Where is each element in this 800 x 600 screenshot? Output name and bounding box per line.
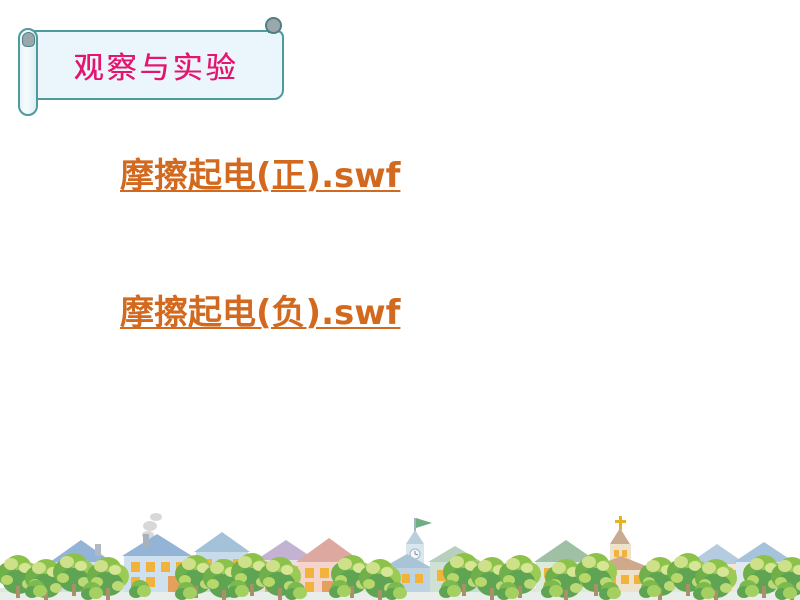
- village-illustration: [0, 504, 800, 600]
- swf-link-positive[interactable]: 摩擦起电(正).swf: [120, 148, 400, 197]
- cross-icon: [615, 516, 626, 530]
- list-item: 摩擦起电(正).swf: [120, 148, 680, 197]
- village-border: [0, 504, 800, 600]
- slide-canvas: 观察与实验 摩擦起电(正).swf 摩擦起电(负).swf: [0, 0, 800, 600]
- banner-title: 观察与实验: [28, 30, 284, 100]
- flag-icon: [416, 518, 432, 528]
- swf-link-list: 摩擦起电(正).swf 摩擦起电(负).swf: [120, 148, 680, 422]
- list-item: 摩擦起电(负).swf: [120, 285, 680, 334]
- swf-link-negative[interactable]: 摩擦起电(负).swf: [120, 285, 400, 334]
- scroll-banner: 观察与实验: [18, 14, 290, 114]
